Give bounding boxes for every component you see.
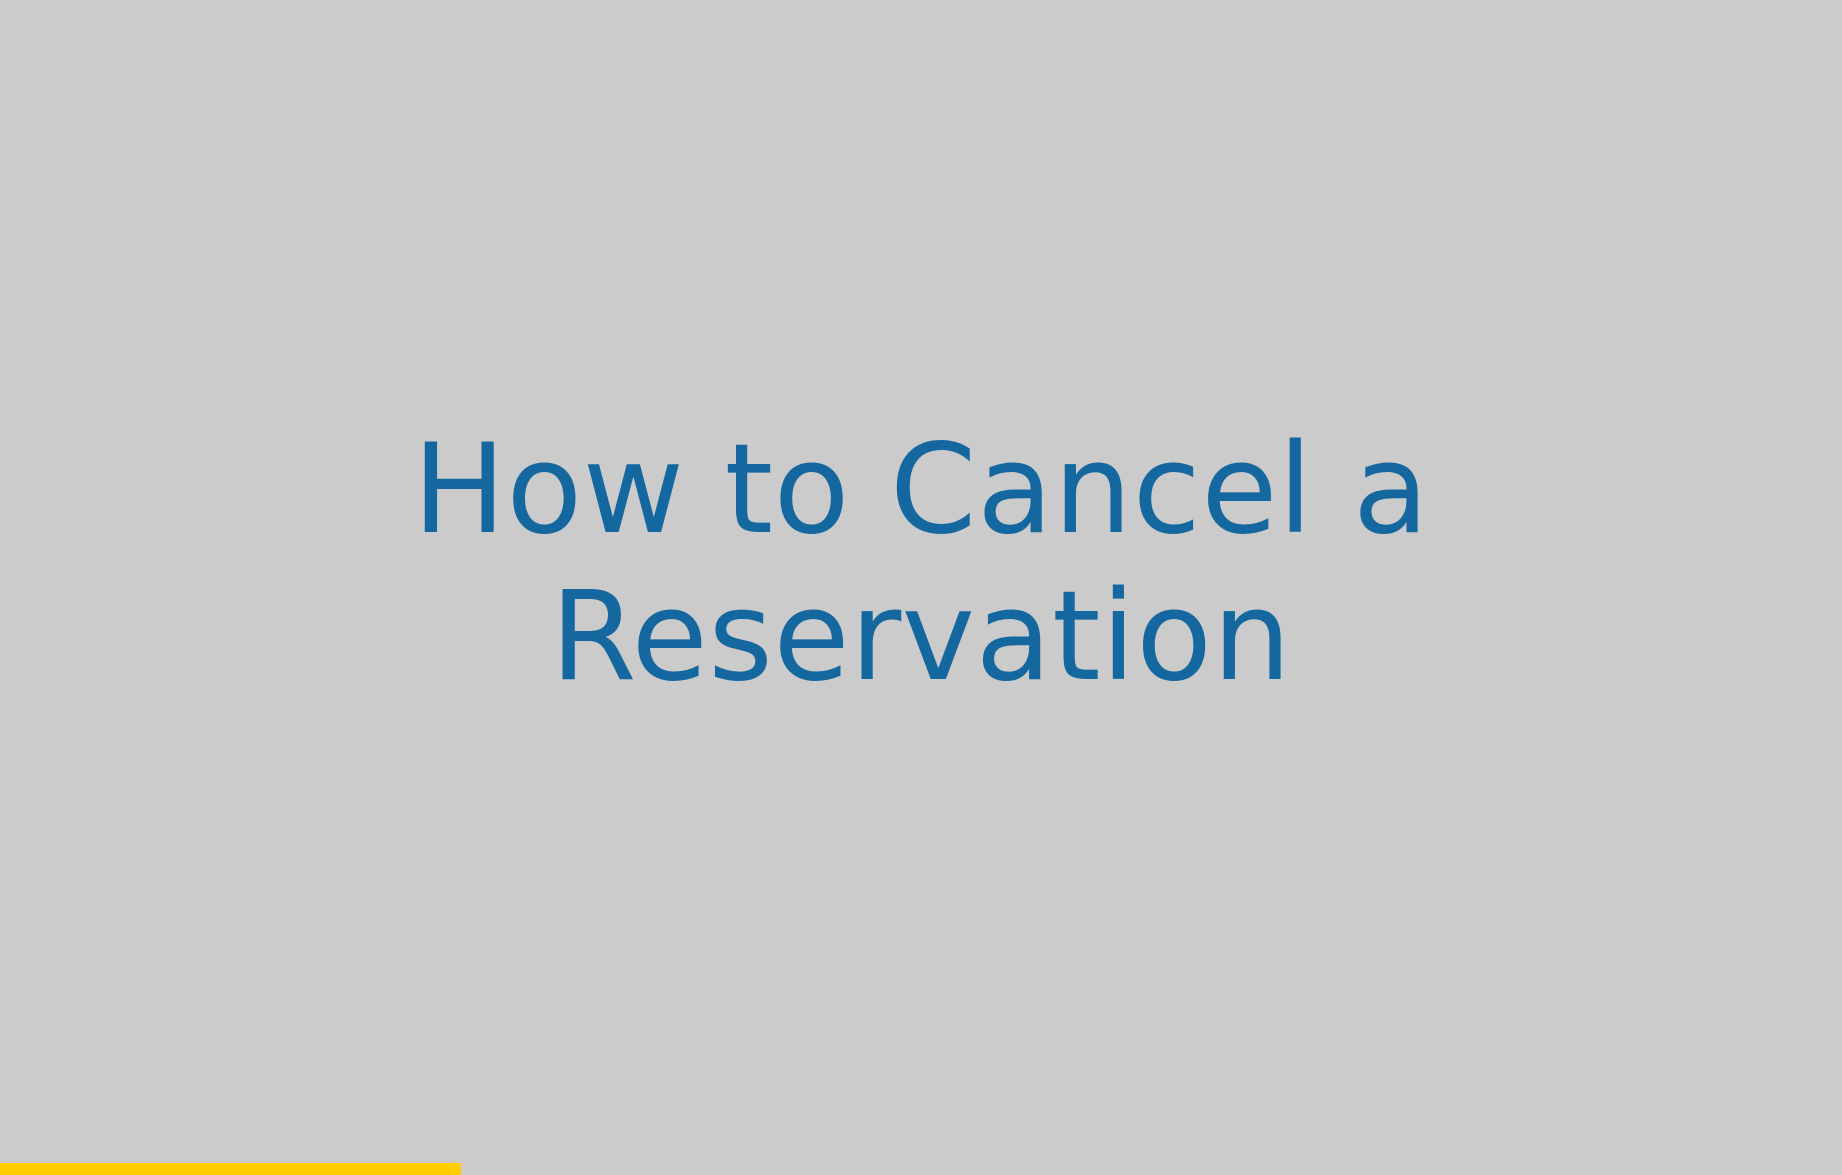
slide-title-block: How to Cancel a Reservation bbox=[0, 0, 1842, 1175]
accent-bar bbox=[0, 1163, 461, 1175]
page-title-line-1: How to Cancel a bbox=[413, 417, 1430, 563]
slide-canvas: How to Cancel a Reservation bbox=[0, 0, 1842, 1175]
page-title-line-2: Reservation bbox=[550, 564, 1291, 710]
